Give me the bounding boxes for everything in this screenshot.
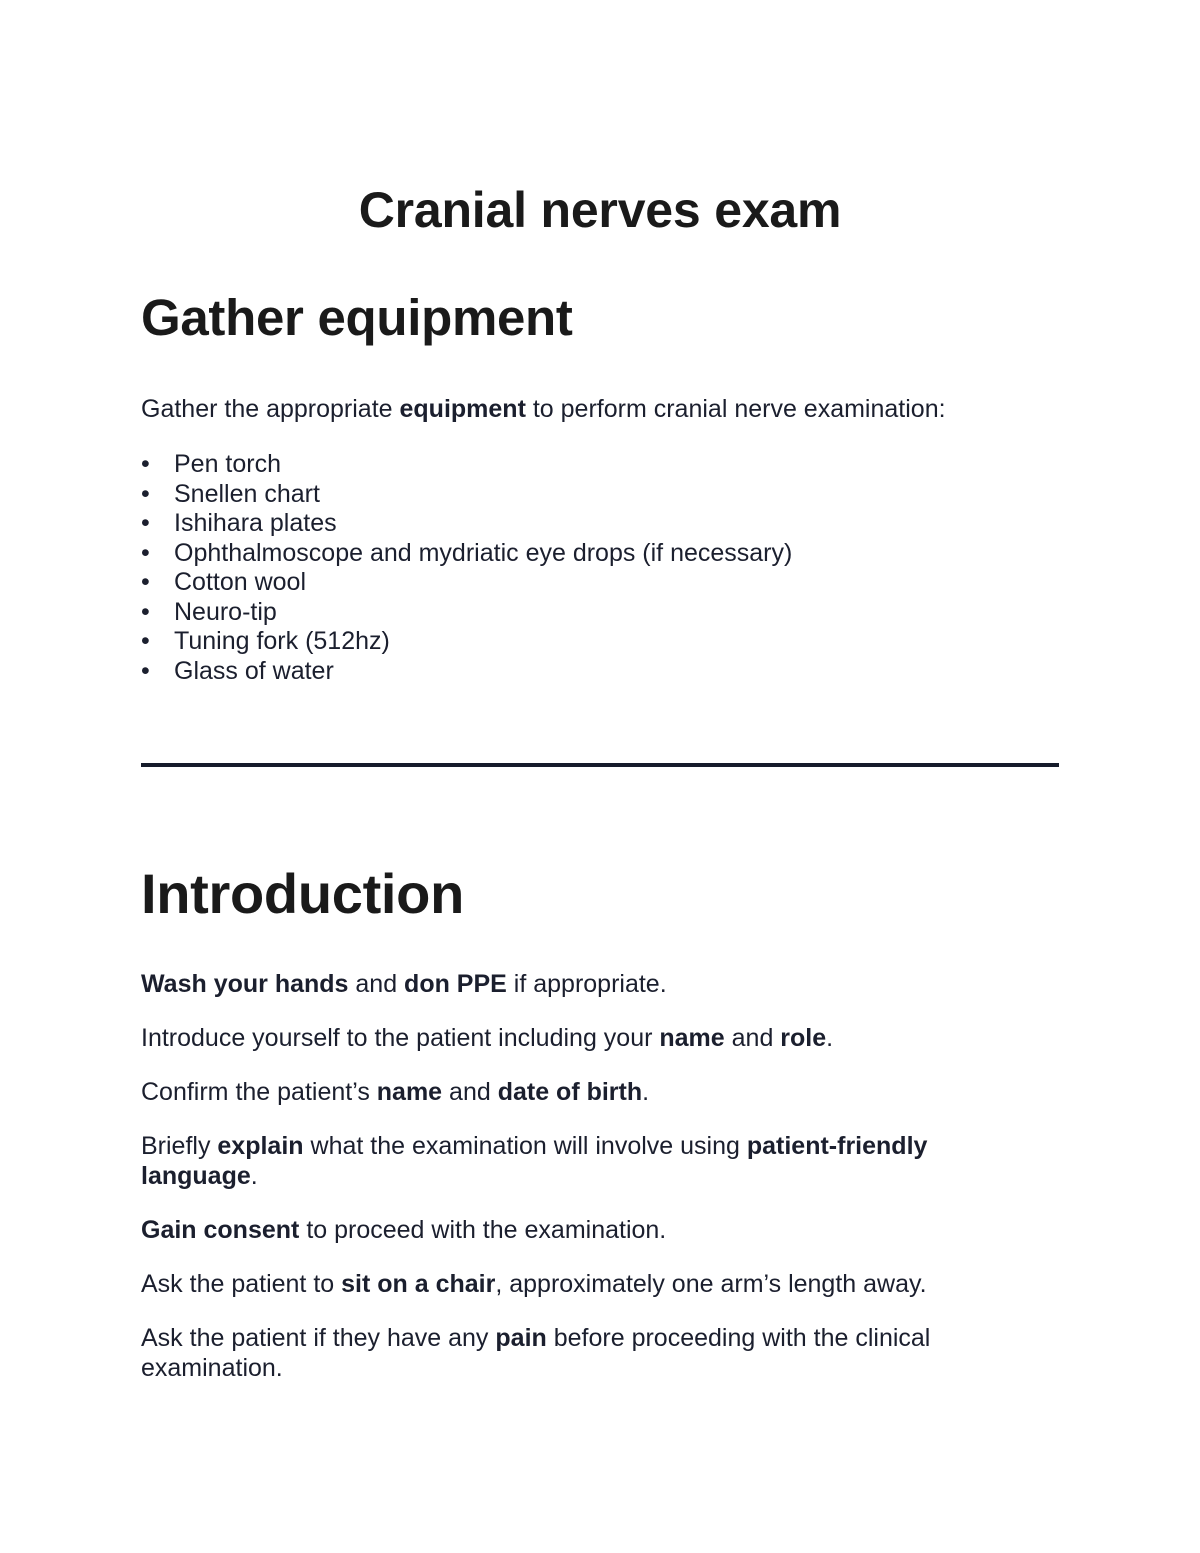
paragraph-sit-on-chair: Ask the patient to sit on a chair, appro… bbox=[141, 1269, 956, 1299]
paragraph-briefly-explain: Briefly explain what the examination wil… bbox=[141, 1131, 956, 1191]
emphasised-text: don PPE bbox=[404, 970, 507, 998]
document-content-column: Cranial nerves exam Gather equipment Gat… bbox=[141, 0, 1059, 1383]
paragraph-ask-pain: Ask the patient if they have any pain be… bbox=[141, 1323, 956, 1383]
plain-text: and bbox=[725, 1024, 781, 1052]
plain-text: and bbox=[442, 1078, 498, 1106]
plain-text: Ask the patient if they have any bbox=[141, 1324, 495, 1352]
lead-text-after: to perform cranial nerve examination: bbox=[526, 395, 946, 423]
emphasised-text: Wash your hands bbox=[141, 970, 348, 998]
gather-equipment-lead-paragraph: Gather the appropriate equipment to perf… bbox=[141, 346, 981, 424]
list-item: •Cotton wool bbox=[141, 568, 1059, 598]
list-item-label: Ishihara plates bbox=[174, 509, 337, 537]
emphasised-text: name bbox=[659, 1024, 724, 1052]
list-item-label: Glass of water bbox=[174, 657, 334, 685]
plain-text: , approximately one arm’s length away. bbox=[495, 1270, 926, 1298]
plain-text: Briefly bbox=[141, 1132, 217, 1160]
page-title: Cranial nerves exam bbox=[141, 0, 1059, 238]
list-item: •Neuro-tip bbox=[141, 598, 1059, 628]
plain-text: Introduce yourself to the patient includ… bbox=[141, 1024, 659, 1052]
list-item-label: Tuning fork (512hz) bbox=[174, 627, 390, 655]
bullet-icon: • bbox=[141, 509, 155, 539]
emphasised-text: role bbox=[780, 1024, 826, 1052]
emphasised-text: Gain consent bbox=[141, 1216, 299, 1244]
document-page: Cranial nerves exam Gather equipment Gat… bbox=[0, 0, 1200, 1553]
list-item: •Ophthalmoscope and mydriatic eye drops … bbox=[141, 539, 1059, 569]
bullet-icon: • bbox=[141, 598, 155, 628]
list-item-label: Snellen chart bbox=[174, 480, 320, 508]
equipment-list: •Pen torch •Snellen chart •Ishihara plat… bbox=[141, 424, 1059, 686]
bullet-icon: • bbox=[141, 450, 155, 480]
list-item: •Glass of water bbox=[141, 657, 1059, 687]
bullet-icon: • bbox=[141, 568, 155, 598]
plain-text: Ask the patient to bbox=[141, 1270, 341, 1298]
lead-text-before: Gather the appropriate bbox=[141, 395, 400, 423]
emphasised-text: sit on a chair bbox=[341, 1270, 495, 1298]
list-item-label: Ophthalmoscope and mydriatic eye drops (… bbox=[174, 539, 792, 567]
emphasised-text: explain bbox=[217, 1132, 303, 1160]
plain-text: and bbox=[348, 970, 404, 998]
spacer bbox=[141, 925, 1059, 969]
lead-text-bold: equipment bbox=[400, 395, 526, 423]
list-item: •Ishihara plates bbox=[141, 509, 1059, 539]
emphasised-text: name bbox=[377, 1078, 442, 1106]
paragraph-introduce-yourself: Introduce yourself to the patient includ… bbox=[141, 1023, 956, 1053]
plain-text: . bbox=[251, 1162, 258, 1190]
paragraph-confirm-identity: Confirm the patient’s name and date of b… bbox=[141, 1077, 956, 1107]
bullet-icon: • bbox=[141, 627, 155, 657]
introduction-body: Wash your hands and don PPE if appropria… bbox=[141, 969, 1059, 1383]
divider-container bbox=[141, 686, 1059, 767]
bullet-icon: • bbox=[141, 657, 155, 687]
section-heading-introduction: Introduction bbox=[141, 863, 1059, 925]
bullet-icon: • bbox=[141, 480, 155, 510]
bullet-icon: • bbox=[141, 539, 155, 569]
plain-text: what the examination will involve using bbox=[304, 1132, 747, 1160]
list-item: •Pen torch bbox=[141, 450, 1059, 480]
spacer bbox=[141, 767, 1059, 863]
plain-text: to proceed with the examination. bbox=[299, 1216, 666, 1244]
list-item-label: Pen torch bbox=[174, 450, 281, 478]
list-item-label: Neuro-tip bbox=[174, 598, 277, 626]
plain-text: . bbox=[642, 1078, 649, 1106]
plain-text: if appropriate. bbox=[507, 970, 667, 998]
paragraph-gain-consent: Gain consent to proceed with the examina… bbox=[141, 1215, 956, 1245]
plain-text: Confirm the patient’s bbox=[141, 1078, 377, 1106]
plain-text: . bbox=[826, 1024, 833, 1052]
section-heading-gather-equipment: Gather equipment bbox=[141, 238, 1059, 346]
paragraph-wash-hands: Wash your hands and don PPE if appropria… bbox=[141, 969, 956, 999]
list-item: •Snellen chart bbox=[141, 480, 1059, 510]
list-item: •Tuning fork (512hz) bbox=[141, 627, 1059, 657]
list-item-label: Cotton wool bbox=[174, 568, 306, 596]
emphasised-text: pain bbox=[495, 1324, 546, 1352]
emphasised-text: date of birth bbox=[498, 1078, 642, 1106]
